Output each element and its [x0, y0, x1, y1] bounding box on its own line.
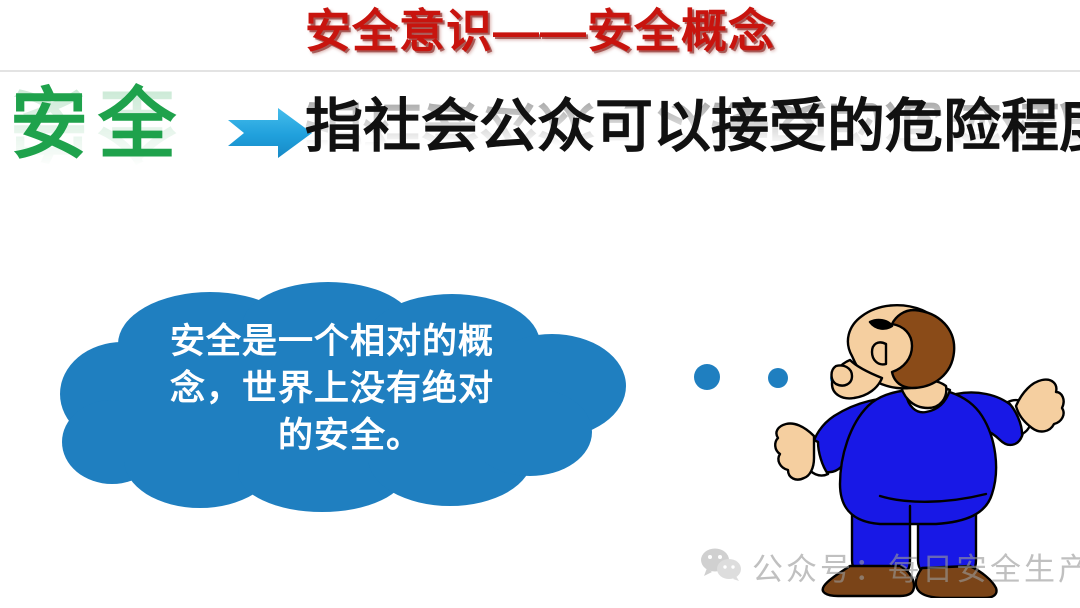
page-title: 安全意识——安全概念 — [0, 2, 1080, 60]
cloud-text-line-1: 安全是一个相对的概 — [170, 318, 530, 365]
hero-definition-text: 指社会公众可以接受的危险程度 — [305, 92, 1080, 162]
cloud-text-line-3: 的安全。 — [170, 412, 530, 459]
thought-dot-large — [694, 364, 720, 390]
slide-canvas: 安全意识——安全概念 安全 安全 指社会公众可以接受的危险程度 指社会公众可以接… — [0, 0, 1080, 608]
cloud-text-line-2: 念，世界上没有绝对 — [170, 365, 530, 412]
hero-keyword: 安全 — [10, 78, 186, 170]
wechat-icon — [700, 547, 742, 586]
cloud-callout: 安全是一个相对的概 念，世界上没有绝对 的安全。 — [60, 282, 660, 512]
hero-definition-row: 安全 安全 指社会公众可以接受的危险程度 指社会公众可以接受的危险程度 — [0, 78, 1080, 198]
cloud-callout-text: 安全是一个相对的概 念，世界上没有绝对 的安全。 — [170, 318, 530, 459]
right-arrow-icon — [228, 108, 312, 158]
cartoon-man-illustration — [760, 298, 1070, 598]
title-divider — [0, 70, 1080, 72]
